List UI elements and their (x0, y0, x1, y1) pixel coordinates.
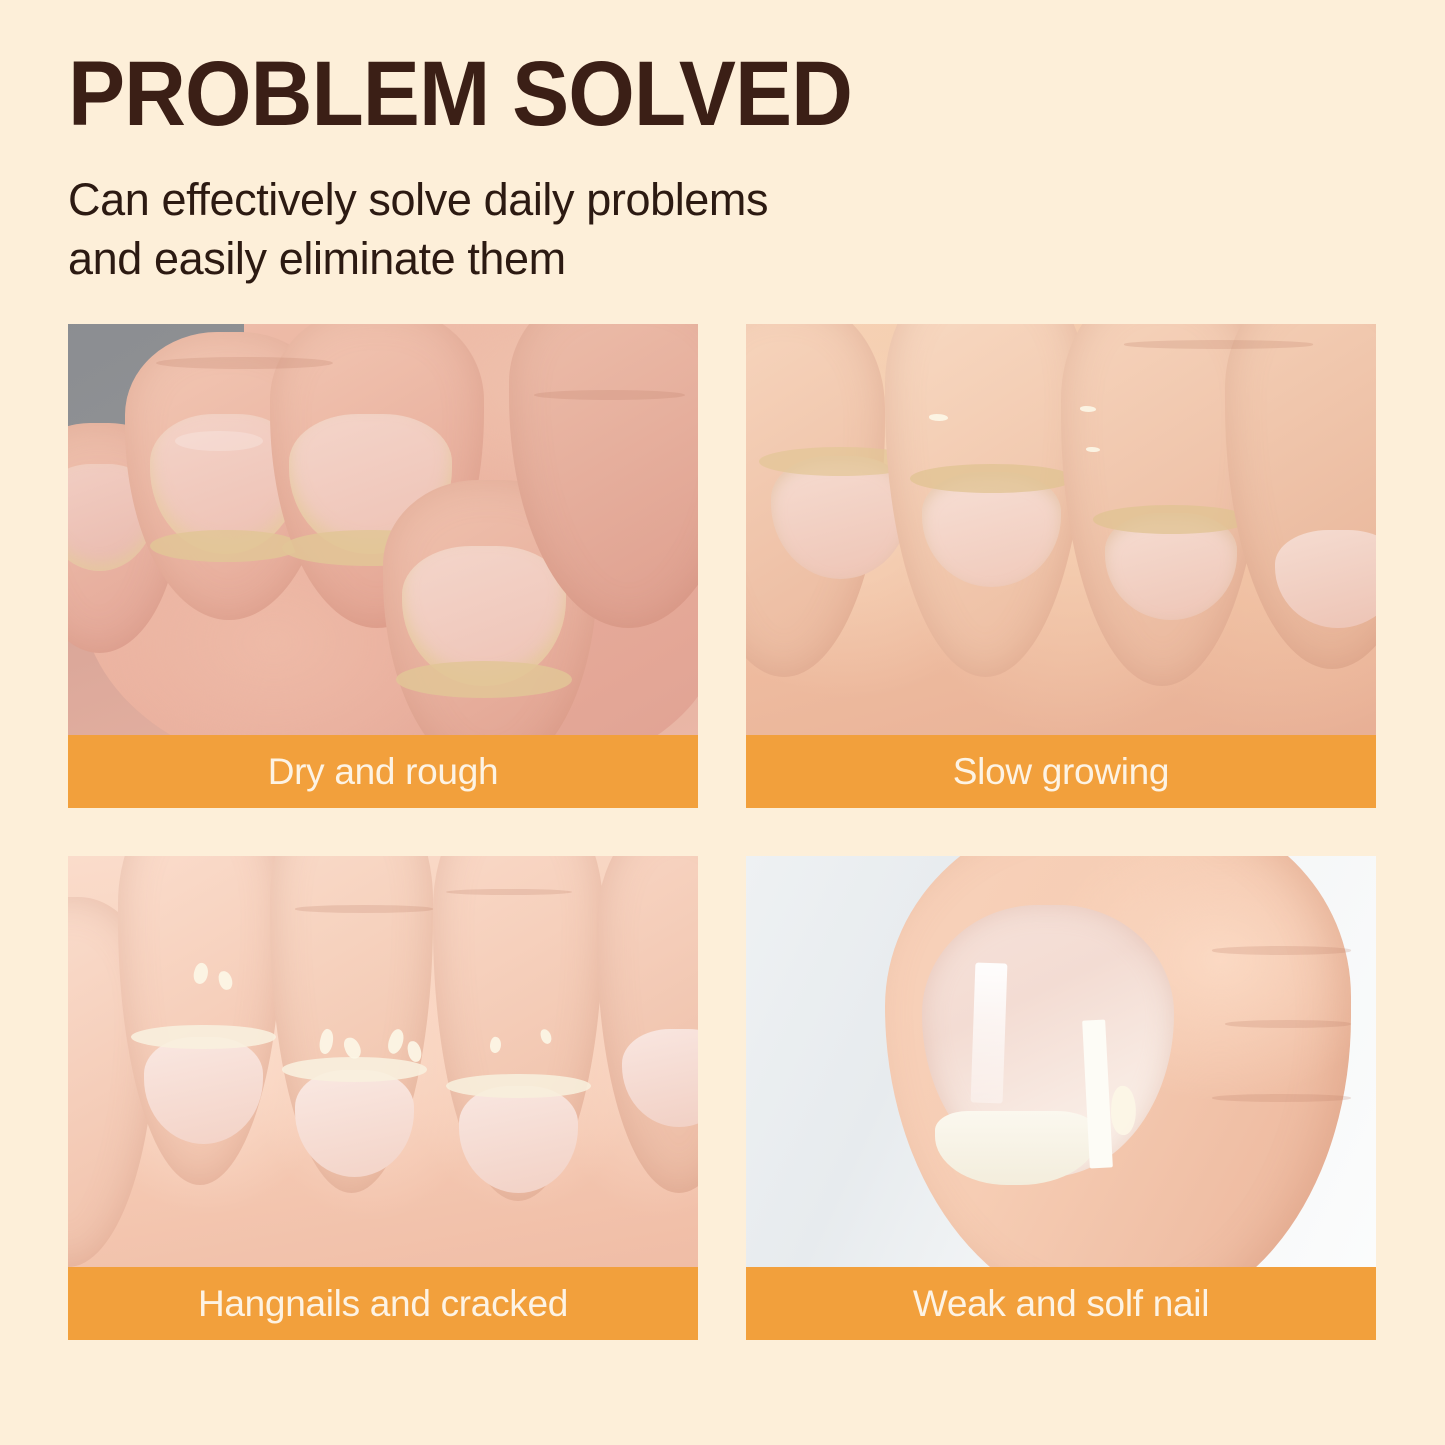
dry-rough-nails-photo (68, 324, 698, 735)
nail-2-rough-edge (150, 530, 301, 563)
card-caption-dry-rough: Dry and rough (68, 735, 698, 808)
card-caption-slow-growing: Slow growing (746, 735, 1376, 808)
page-subtitle-line-2: and easily eliminate them (68, 229, 1068, 288)
problem-card-slow-growing: Slow growing (746, 324, 1376, 808)
problem-cards-grid: Dry and rough Slow growing (68, 324, 1376, 1340)
weak-soft-nail-photo (746, 856, 1376, 1267)
card-caption-weak-soft: Weak and solf nail (746, 1267, 1376, 1340)
knuckle-crease-2 (1225, 1020, 1351, 1027)
nail-4-rough-edge (396, 661, 572, 698)
problem-card-hangnails: Hangnails and cracked (68, 856, 698, 1340)
problem-card-weak-soft: Weak and solf nail (746, 856, 1376, 1340)
skin-crease-1 (295, 905, 434, 912)
page-subtitle-line-1: Can effectively solve daily problems (68, 170, 1068, 229)
problem-card-dry-rough: Dry and rough (68, 324, 698, 808)
hangnails-cracked-photo (68, 856, 698, 1267)
nail-3-cuticle (1093, 505, 1251, 534)
skin-flake-1 (929, 414, 948, 421)
knuckle-crease-3 (1212, 1094, 1351, 1101)
header: PROBLEM SOLVED Can effectively solve dai… (68, 48, 1378, 289)
page-title: PROBLEM SOLVED (68, 48, 1286, 140)
skin-crease-2 (534, 390, 685, 400)
slow-growing-nails-photo (746, 324, 1376, 735)
nail-3-hangnail-edge (282, 1057, 427, 1082)
skin-flake-2 (1080, 406, 1096, 412)
nail-2-cuticle (910, 464, 1074, 493)
skin-crease-1 (1124, 340, 1313, 348)
card-caption-hangnails: Hangnails and cracked (68, 1267, 698, 1340)
page-subtitle: Can effectively solve daily problems and… (68, 140, 1068, 289)
skin-crease-1 (156, 357, 332, 369)
knuckle-crease-1 (1212, 946, 1351, 954)
nail-white-streak (970, 962, 1006, 1103)
nail-2-hangnail-edge (131, 1025, 276, 1050)
